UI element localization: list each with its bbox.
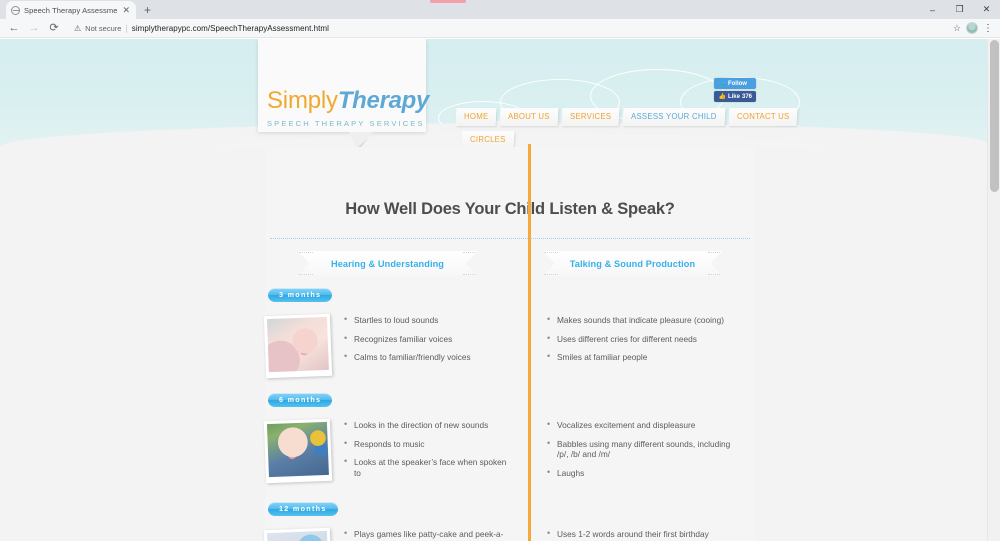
nav-item-home[interactable]: HOME	[456, 108, 497, 126]
facebook-like-label: Like	[728, 94, 740, 100]
talking-column: Vocalizes excitement and displeasure Bab…	[510, 420, 755, 486]
ribbon-banner: Talking & Sound Production	[543, 251, 723, 276]
divider	[270, 238, 750, 239]
talking-list: Vocalizes excitement and displeasure Bab…	[545, 420, 733, 486]
status-badge: 12 months	[268, 502, 338, 516]
twitter-follow-button[interactable]: 🐦 Follow	[714, 78, 756, 89]
list-item: Makes sounds that indicate pleasure (coo…	[547, 315, 724, 326]
twitter-bird-icon: 🐦	[718, 80, 725, 87]
age-row: 12 months Plays games like patty-cake an…	[265, 502, 755, 541]
age-row: 6 months Looks in the direction of new s…	[265, 393, 755, 486]
vertical-divider	[528, 144, 531, 541]
talking-list: Makes sounds that indicate pleasure (coo…	[545, 315, 724, 377]
nav-item-label: ABOUT US	[508, 112, 550, 121]
logo-text: SimplyTherapy	[267, 89, 419, 113]
page-scrollbar[interactable]	[987, 39, 1000, 541]
address-bar[interactable]: ⚠ Not secure | simplytherapypc.com/Speec…	[68, 21, 948, 36]
age-bar: 12 months	[265, 502, 755, 517]
browser-tab[interactable]: Speech Therapy Assessment Info ✕	[6, 1, 136, 19]
list-item: Smiles at familiar people	[547, 352, 724, 363]
nav-item-assess-your-child[interactable]: ASSESS YOUR CHILD	[623, 108, 726, 126]
facebook-like-button[interactable]: 👍 Like 376	[714, 91, 756, 102]
talking-column: Uses 1-2 words around their first birthd…	[510, 529, 755, 541]
hearing-column: Plays games like patty-cake and peek-a-b…	[265, 529, 510, 541]
photo-image	[267, 531, 329, 541]
nav-item-services[interactable]: SERVICES	[562, 108, 620, 126]
maximize-button[interactable]: ❐	[946, 4, 973, 15]
new-tab-button[interactable]: +	[144, 4, 151, 19]
photo-image	[267, 317, 329, 372]
age-row-body: Startles to loud sounds Recognizes famil…	[265, 303, 755, 377]
list-item: Vocalizes excitement and displeasure	[547, 420, 733, 431]
age-rule	[268, 509, 750, 511]
site-nav: HOME ABOUT US SERVICES ASSESS YOUR CHILD…	[456, 108, 797, 149]
reload-icon[interactable]: ⟳	[44, 23, 64, 34]
browser-toolbar: ← → ⟳ ⚠ Not secure | simplytherapypc.com…	[0, 19, 1000, 38]
site-logo[interactable]: SimplyTherapy SPEECH THERAPY SERVICES	[267, 89, 419, 128]
close-icon[interactable]: ✕	[121, 6, 131, 15]
scrollbar-thumb[interactable]	[990, 40, 999, 192]
nav-row-primary: HOME ABOUT US SERVICES ASSESS YOUR CHILD…	[456, 108, 797, 126]
nav-item-label: ASSESS YOUR CHILD	[631, 112, 717, 121]
security-label: Not secure	[85, 24, 121, 33]
warning-triangle-icon: ⚠	[74, 24, 81, 33]
column-header-label: Talking & Sound Production	[570, 259, 695, 269]
menu-kebab-icon[interactable]: ⋮	[983, 23, 993, 34]
download-indicator	[430, 0, 466, 3]
list-item: Looks at the speaker’s face when spoken …	[344, 457, 510, 478]
talking-column: Makes sounds that indicate pleasure (coo…	[510, 315, 755, 377]
divider: |	[125, 23, 127, 33]
hearing-column: Looks in the direction of new sounds Res…	[265, 420, 510, 486]
page-content: How Well Does Your Child Listen & Speak?…	[0, 147, 987, 541]
nav-item-label: CONTACT US	[737, 112, 789, 121]
talking-list: Uses 1-2 words around their first birthd…	[545, 529, 709, 541]
age-row-body: Looks in the direction of new sounds Res…	[265, 408, 755, 486]
content-panel: How Well Does Your Child Listen & Speak?…	[265, 147, 755, 541]
hearing-column: Startles to loud sounds Recognizes famil…	[265, 315, 510, 377]
status-badge: 3 months	[268, 288, 332, 302]
ribbon-banner: Hearing & Understanding	[298, 251, 478, 276]
column-header-hearing: Hearing & Understanding	[265, 251, 510, 276]
window-controls: – ❐ ✕	[919, 0, 1000, 19]
column-header-talking: Talking & Sound Production	[510, 251, 755, 276]
list-item: Uses different cries for different needs	[547, 334, 724, 345]
column-headers: Hearing & Understanding Talking & Sound …	[265, 251, 755, 276]
logo-word-simply: Simply	[267, 87, 338, 114]
avatar[interactable]	[966, 22, 978, 34]
tab-strip: Speech Therapy Assessment Info ✕ + – ❐ ✕	[0, 0, 1000, 19]
page-viewport: SimplyTherapy SPEECH THERAPY SERVICES HO…	[0, 39, 1000, 541]
list-item: Startles to loud sounds	[344, 315, 471, 326]
globe-icon	[11, 6, 20, 15]
url-text: simplytherapypc.com/SpeechTherapyAssessm…	[132, 24, 329, 33]
forward-icon[interactable]: →	[24, 23, 44, 34]
list-item: Recognizes familiar voices	[344, 334, 471, 345]
back-icon[interactable]: ←	[4, 23, 24, 34]
status-badge: 6 months	[268, 393, 332, 407]
hearing-list: Plays games like patty-cake and peek-a-b…	[342, 529, 510, 541]
social-buttons: 🐦 Follow 👍 Like 376	[714, 78, 756, 104]
age-rule	[268, 400, 750, 402]
bookmark-star-icon[interactable]: ☆	[953, 23, 961, 34]
twitter-follow-label: Follow	[728, 81, 747, 87]
nav-item-contact-us[interactable]: CONTACT US	[729, 108, 798, 126]
nav-item-label: CIRCLES	[470, 135, 506, 144]
age-bar: 3 months	[265, 288, 755, 303]
hearing-list: Looks in the direction of new sounds Res…	[342, 420, 510, 486]
logo-tagline: SPEECH THERAPY SERVICES	[267, 119, 419, 128]
age-bar: 6 months	[265, 393, 755, 408]
close-window-button[interactable]: ✕	[973, 4, 1000, 15]
hearing-list: Startles to loud sounds Recognizes famil…	[342, 315, 471, 377]
list-item: Looks in the direction of new sounds	[344, 420, 510, 431]
baby-photo-6-months	[264, 419, 332, 483]
nav-item-label: SERVICES	[570, 112, 611, 121]
age-row: 3 months Startles to loud sounds Recogni…	[265, 288, 755, 377]
nav-item-about-us[interactable]: ABOUT US	[500, 108, 559, 126]
baby-photo-12-months	[264, 528, 332, 541]
tab-title: Speech Therapy Assessment Info	[24, 6, 117, 15]
nav-item-label: HOME	[464, 112, 488, 121]
page-title: How Well Does Your Child Listen & Speak?	[265, 147, 755, 219]
age-row-body: Plays games like patty-cake and peek-a-b…	[265, 517, 755, 541]
list-item: Uses 1-2 words around their first birthd…	[547, 529, 709, 540]
photo-image	[267, 422, 329, 477]
facebook-like-count: 376	[742, 94, 752, 100]
list-item: Calms to familiar/friendly voices	[344, 352, 471, 363]
minimize-button[interactable]: –	[919, 5, 946, 15]
browser-window: Speech Therapy Assessment Info ✕ + – ❐ ✕…	[0, 0, 1000, 541]
logo-word-therapy: Therapy	[338, 87, 429, 114]
thumbs-up-icon: 👍	[718, 93, 725, 100]
list-item: Responds to music	[344, 439, 510, 450]
list-item: Laughs	[547, 468, 733, 479]
column-header-label: Hearing & Understanding	[331, 259, 444, 269]
list-item: Plays games like patty-cake and peek-a-b…	[344, 529, 510, 541]
list-item: Babbles using many different sounds, inc…	[547, 439, 733, 460]
baby-photo-3-months	[264, 314, 332, 378]
age-rule	[268, 295, 750, 297]
